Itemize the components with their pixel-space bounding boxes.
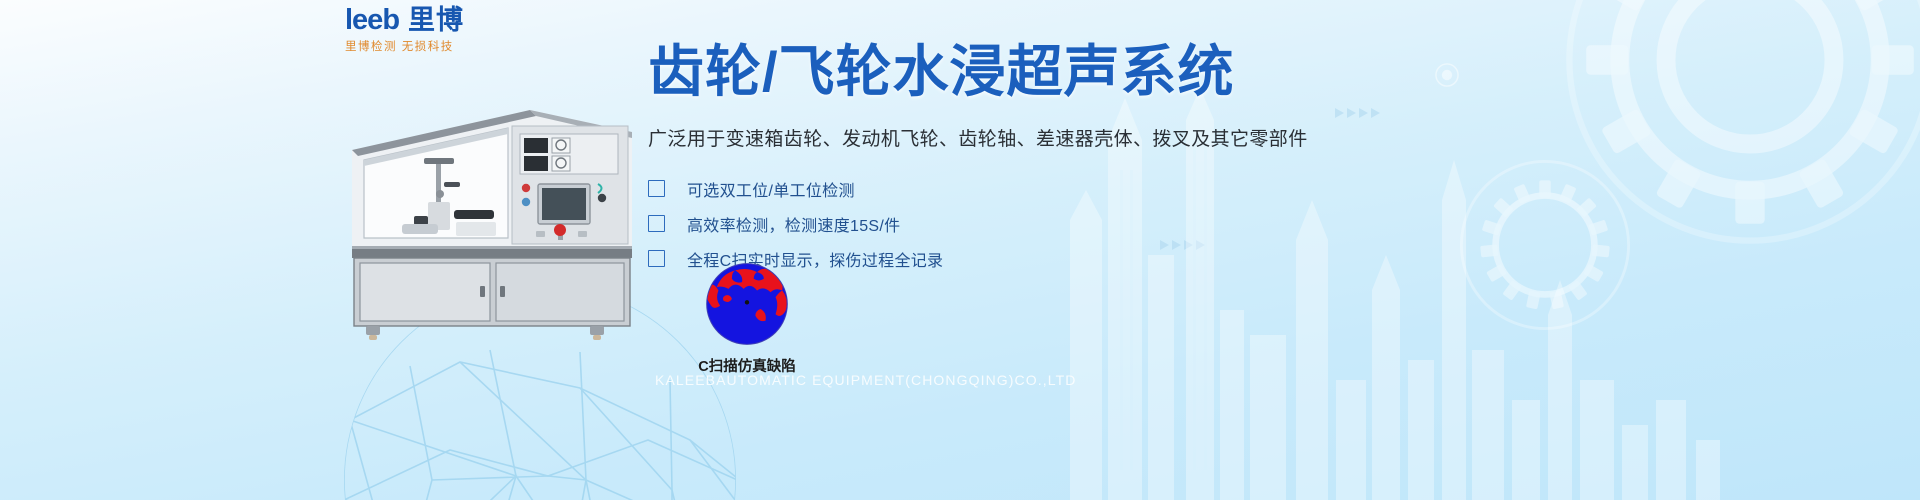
feature-label: 高效率检测，检测速度15S/件 [687,212,900,236]
logo-tagline: 里博检测 无损科技 [345,38,545,54]
hero-banner: leeb 里博 里博检测 无损科技 [0,0,1920,500]
cscan-figure: C扫描仿真缺陷 [672,262,822,376]
page-subtitle: 广泛用于变速箱齿轮、发动机飞轮、齿轮轴、差速器壳体、拨叉及其它零部件 [648,124,1268,151]
hero-content: 齿轮/飞轮水浸超声系统 广泛用于变速箱齿轮、发动机飞轮、齿轮轴、差速器壳体、拨叉… [648,42,1268,292]
feature-label: 可选双工位/单工位检测 [687,177,855,201]
company-watermark: KALEEBAUTOMATIC EQUIPMENT(CHONGQING)CO.,… [655,372,1076,388]
arrow-motif-icon [1335,108,1380,118]
product-photo-machine [340,98,640,348]
checkbox-icon[interactable] [648,180,665,197]
logo-chinese-name: 里博 [408,7,464,34]
gear-outline-icon [1540,0,1920,270]
checkbox-icon[interactable] [648,250,665,267]
ring-dot-icon [1434,62,1460,88]
checkbox-icon[interactable] [648,215,665,232]
cscan-defect-image [705,262,789,346]
list-item: 高效率检测，检测速度15S/件 [648,206,1268,241]
gear-outline-small-icon [1450,150,1640,340]
logo-wordmark: leeb [345,6,399,35]
list-item: 可选双工位/单工位检测 [648,171,1268,206]
page-title: 齿轮/飞轮水浸超声系统 [648,42,1268,102]
feature-list: 可选双工位/单工位检测 高效率检测，检测速度15S/件 全程C扫实时显示，探伤过… [648,171,1268,276]
brand-logo[interactable]: leeb 里博 里博检测 无损科技 [345,6,545,54]
